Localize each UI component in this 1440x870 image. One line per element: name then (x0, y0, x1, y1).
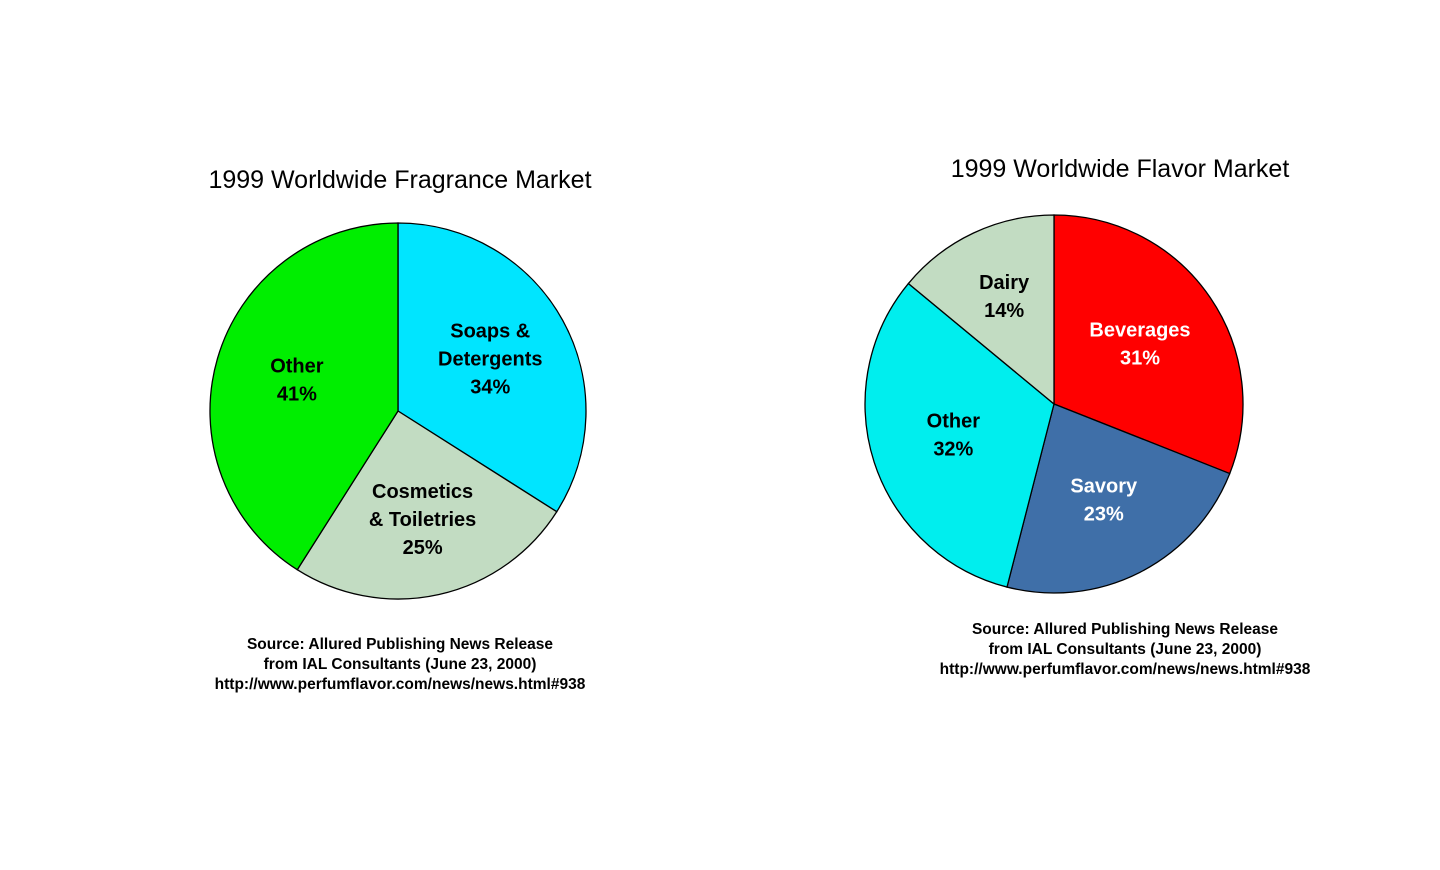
source-note-flavor: Source: Allured Publishing News Release … (835, 620, 1415, 680)
source-url: http://www.perfumflavor.com/news/news.ht… (110, 675, 690, 695)
chart-panel-flavor: 1999 Worldwide Flavor Market Beverages31… (790, 0, 1440, 870)
pie-slices-fragrance[interactable] (210, 223, 586, 599)
pie-slices-flavor[interactable] (865, 215, 1243, 593)
source-line-1: Source: Allured Publishing News Release (835, 620, 1415, 640)
pie-svg-fragrance: Soaps &Detergents34%Cosmetics& Toiletrie… (208, 221, 588, 601)
pie-chart-fragrance: Soaps &Detergents34%Cosmetics& Toiletrie… (208, 221, 588, 601)
source-url: http://www.perfumflavor.com/news/news.ht… (835, 660, 1415, 680)
source-line-2: from IAL Consultants (June 23, 2000) (835, 640, 1415, 660)
chart-panel-fragrance: 1999 Worldwide Fragrance Market Soaps &D… (0, 0, 800, 870)
pie-svg-flavor: Beverages31%Savory23%Other32%Dairy14% (863, 213, 1245, 595)
chart-title-flavor: 1999 Worldwide Flavor Market (850, 155, 1390, 184)
pie-chart-flavor: Beverages31%Savory23%Other32%Dairy14% (863, 213, 1245, 595)
source-line-2: from IAL Consultants (June 23, 2000) (110, 655, 690, 675)
source-note-fragrance: Source: Allured Publishing News Release … (110, 635, 690, 695)
source-line-1: Source: Allured Publishing News Release (110, 635, 690, 655)
chart-title-fragrance: 1999 Worldwide Fragrance Market (120, 166, 680, 195)
